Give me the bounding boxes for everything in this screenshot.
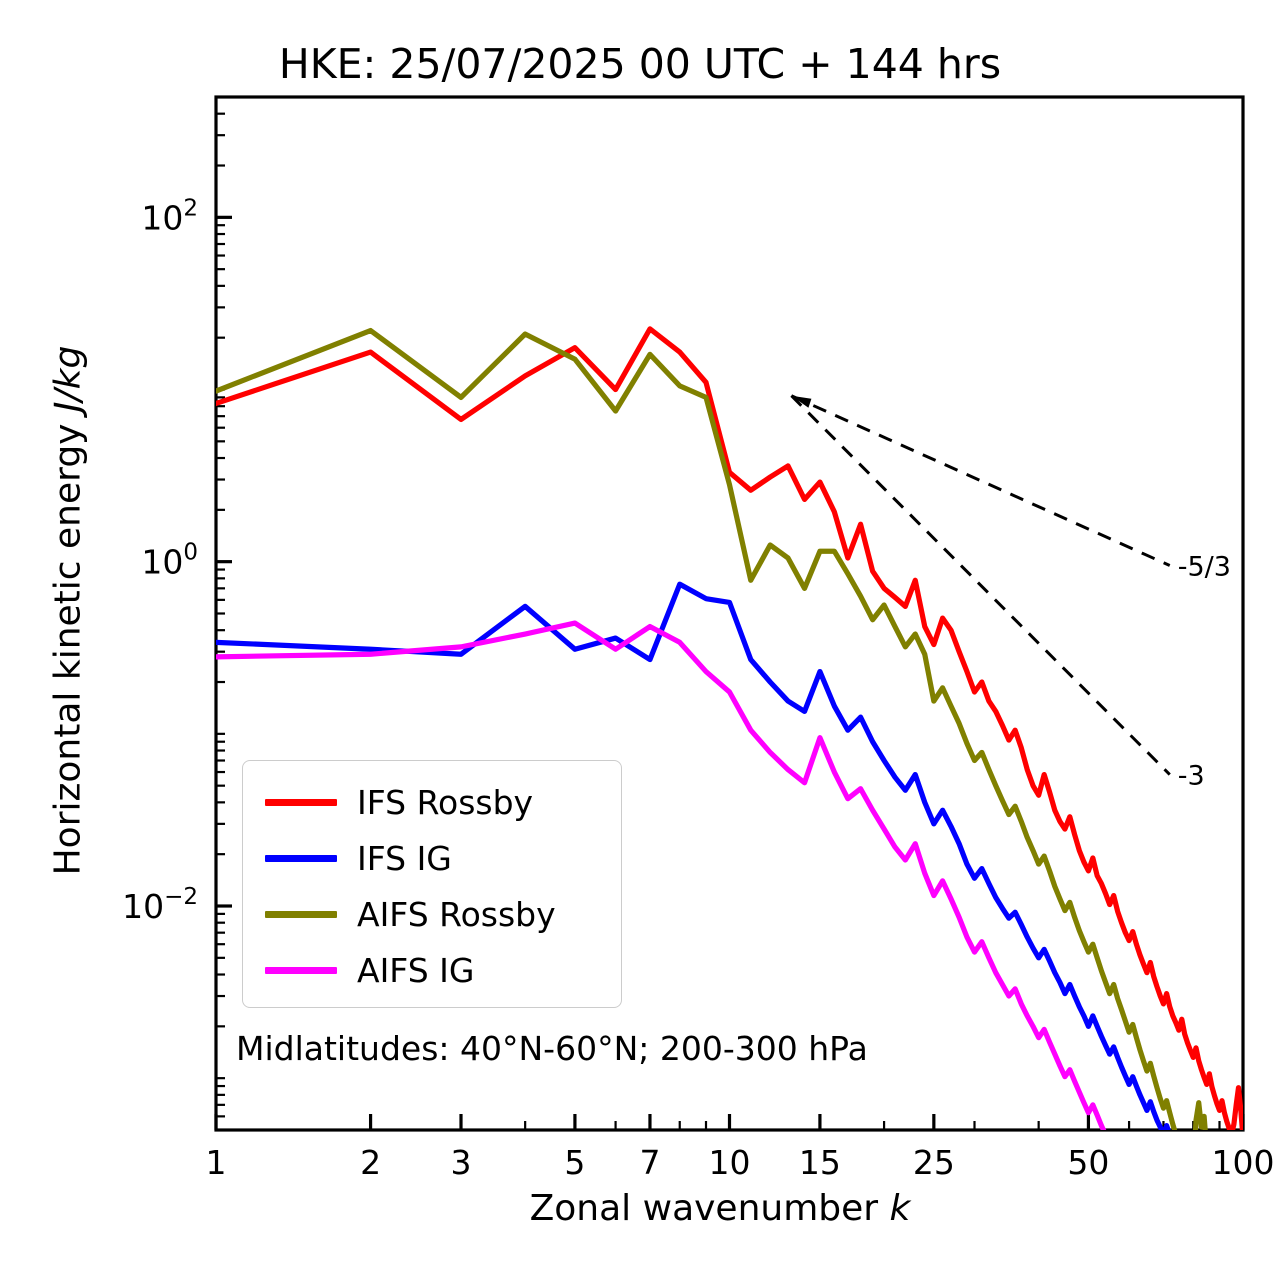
x-axis-tick-label: 25 (913, 1143, 955, 1182)
legend-color-swatch (265, 967, 337, 974)
legend-item[interactable]: AIFS IG (243, 943, 623, 997)
legend-item-label: IFS Rossby (357, 786, 533, 819)
reference-slope-label: -3 (1178, 761, 1205, 792)
x-axis-tick-label: 100 (1212, 1143, 1275, 1182)
x-axis-tick-label: 3 (451, 1143, 472, 1182)
x-axis-tick-label: 1 (206, 1143, 227, 1182)
legend-item-label: AIFS IG (357, 954, 474, 987)
figure-canvas: HKE: 25/07/2025 00 UTC + 144 hrs Horizon… (0, 0, 1280, 1288)
x-axis-tick-label: 5 (564, 1143, 585, 1182)
legend-item[interactable]: IFS IG (243, 831, 623, 885)
legend-color-swatch (265, 911, 337, 918)
x-axis-tick-label: 15 (799, 1143, 841, 1182)
legend-color-swatch (265, 855, 337, 862)
x-axis-tick-label: 2 (360, 1143, 381, 1182)
y-axis-tick-label: 10−2 (122, 884, 198, 926)
legend-color-swatch (265, 799, 337, 806)
series-line (216, 329, 1243, 1138)
plot-area: 1235710152550100 10210010−2 -5/3-3 Midla… (0, 0, 1280, 1288)
y-axis-tick-label: 100 (141, 540, 198, 582)
x-axis-ticks: 1235710152550100 (206, 1114, 1275, 1182)
legend-item[interactable]: IFS Rossby (243, 775, 623, 829)
chart-annotation: Midlatitudes: 40°N-60°N; 200-300 hPa (236, 1029, 868, 1068)
annotation-layer: Midlatitudes: 40°N-60°N; 200-300 hPa (236, 1029, 868, 1068)
x-axis-tick-label: 7 (639, 1143, 660, 1182)
reference-slope-line (791, 396, 1169, 775)
legend-item-label: IFS IG (357, 842, 452, 875)
reference-slope-label: -5/3 (1178, 552, 1231, 583)
x-axis-tick-label: 10 (709, 1143, 751, 1182)
legend: IFS RossbyIFS IGAIFS RossbyAIFS IG (242, 760, 622, 1008)
legend-item-label: AIFS Rossby (357, 898, 556, 931)
y-axis-tick-label: 102 (141, 195, 198, 237)
x-axis-tick-label: 50 (1067, 1143, 1109, 1182)
legend-item[interactable]: AIFS Rossby (243, 887, 623, 941)
slope-arrow-icon (791, 396, 811, 408)
reference-slope-line (791, 396, 1169, 566)
